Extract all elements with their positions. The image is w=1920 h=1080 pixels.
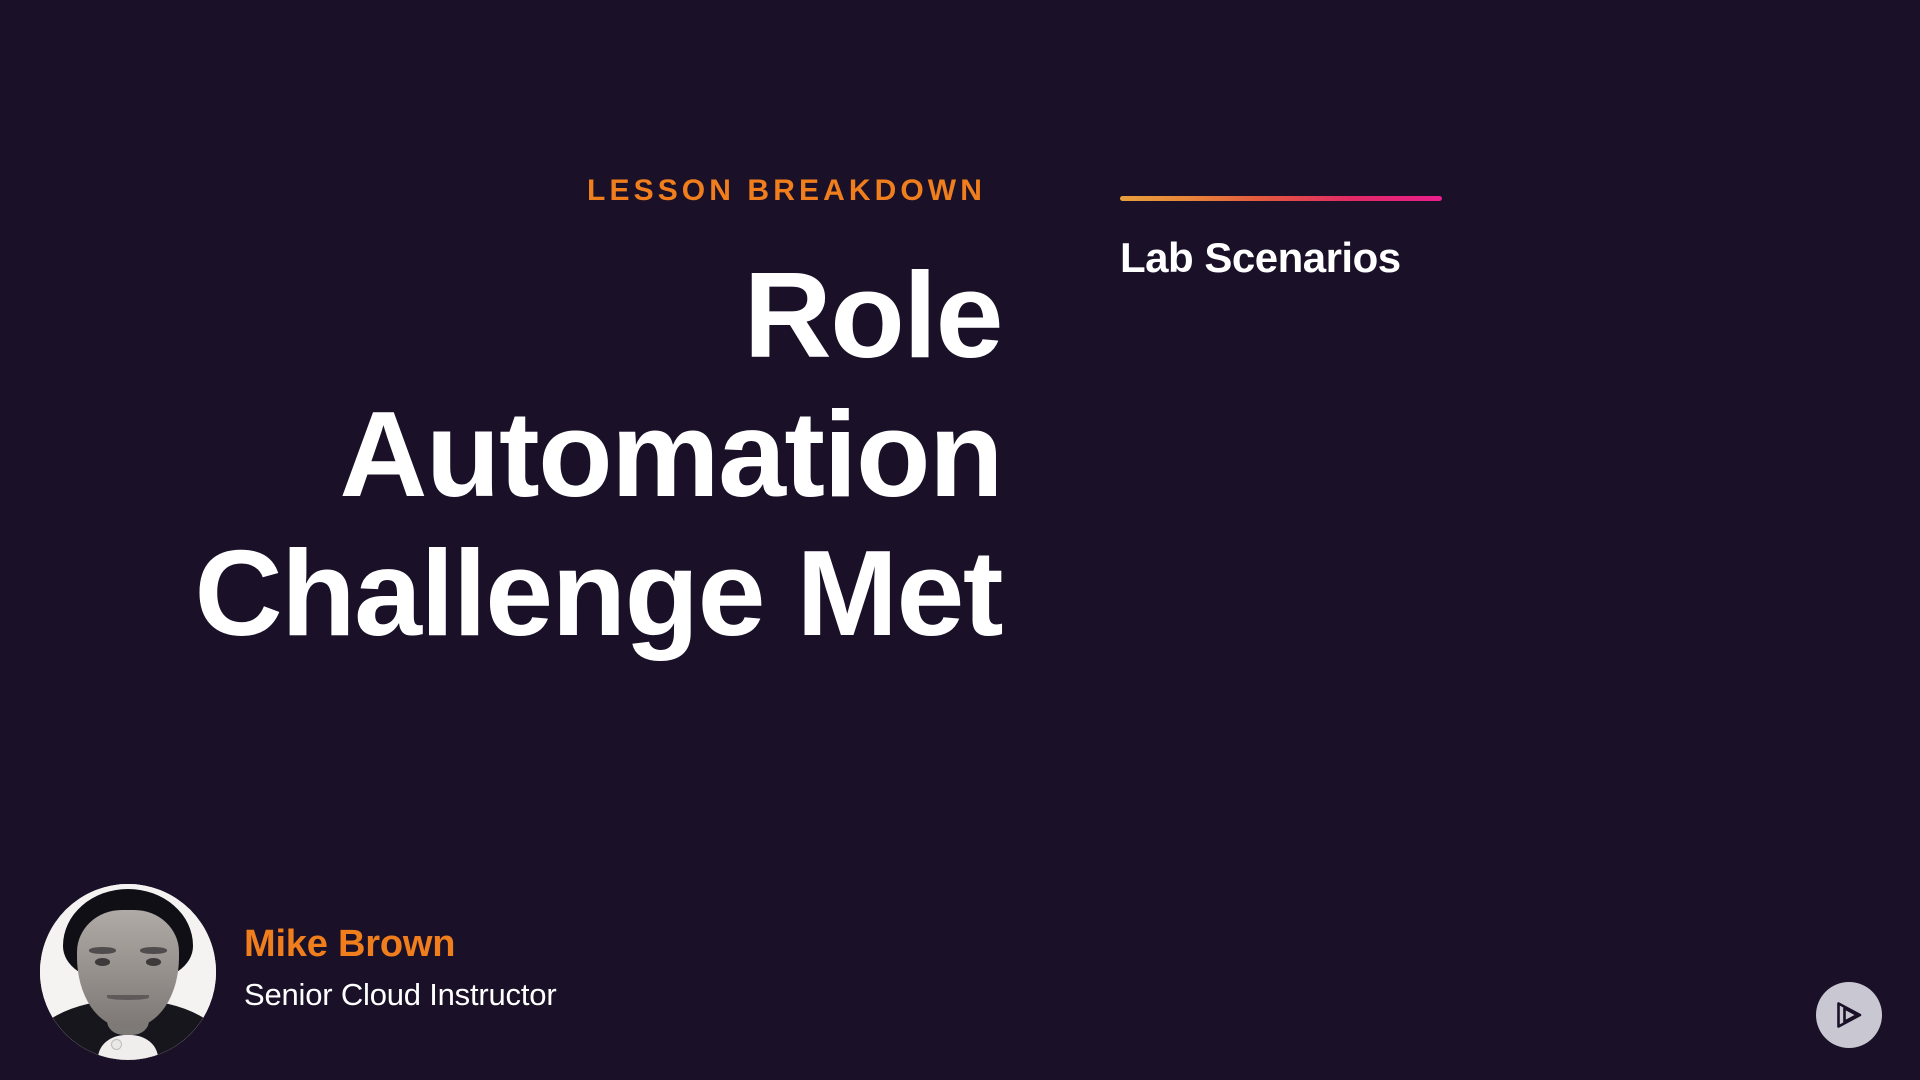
headline-line-3: Challenge Met	[0, 524, 1002, 663]
presenter-name: Mike Brown	[244, 923, 556, 967]
presenter-block: Mike Brown Senior Cloud Instructor	[40, 884, 556, 1060]
avatar-eye-left	[95, 958, 111, 966]
avatar	[40, 884, 216, 1060]
avatar-brow-left	[89, 947, 115, 953]
brand-logo[interactable]	[1816, 982, 1882, 1048]
presenter-role: Senior Cloud Instructor	[244, 977, 556, 1013]
title-block: LESSON BREAKDOWN Role Automation Challen…	[0, 176, 1002, 663]
section-heading: Lab Scenarios	[1120, 235, 1540, 281]
slide-canvas: LESSON BREAKDOWN Role Automation Challen…	[0, 0, 1920, 1080]
play-triangles-icon	[1829, 995, 1869, 1035]
page-title: Role Automation Challenge Met	[0, 246, 1002, 663]
headline-line-2: Automation	[0, 385, 1002, 524]
right-column: Lab Scenarios	[1120, 196, 1540, 307]
headline-line-1: Role	[0, 246, 1002, 385]
avatar-brow-right	[140, 947, 166, 953]
presenter-text: Mike Brown Senior Cloud Instructor	[244, 923, 556, 1020]
gradient-divider	[1120, 196, 1442, 201]
avatar-eye-right	[146, 958, 162, 966]
eyebrow-label: LESSON BREAKDOWN	[0, 176, 1002, 206]
